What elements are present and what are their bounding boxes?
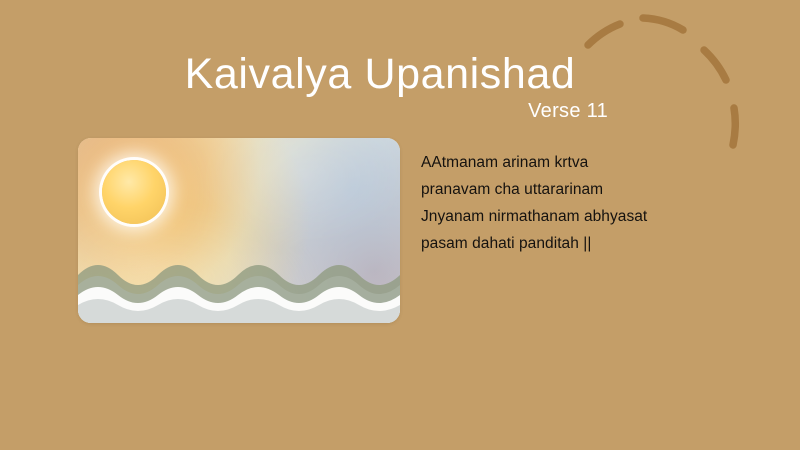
illustration-card bbox=[78, 138, 400, 323]
verse-line-3: Jnyanam nirmathanam abhyasat bbox=[421, 208, 771, 226]
slide-canvas: Kaivalya Upanishad Verse 11 AAtmanam ari… bbox=[0, 0, 800, 450]
verse-line-2: pranavam cha uttararinam bbox=[421, 181, 771, 199]
arc-dash-4 bbox=[733, 108, 735, 145]
arc-dash-3 bbox=[704, 50, 726, 80]
arc-dash-2 bbox=[643, 18, 683, 30]
page-title: Kaivalya Upanishad bbox=[150, 52, 610, 98]
ocean-waves bbox=[78, 253, 400, 323]
verse-line-4: pasam dahati panditah || bbox=[421, 235, 771, 253]
verse-line-1: AAtmanam arinam krtva bbox=[421, 154, 771, 172]
verse-number-subtitle: Verse 11 bbox=[150, 100, 610, 123]
arc-dash-1 bbox=[588, 24, 620, 45]
sun-icon bbox=[102, 160, 166, 224]
verse-text-block: AAtmanam arinam krtva pranavam cha uttar… bbox=[421, 154, 771, 253]
title-block: Kaivalya Upanishad Verse 11 bbox=[150, 52, 610, 123]
